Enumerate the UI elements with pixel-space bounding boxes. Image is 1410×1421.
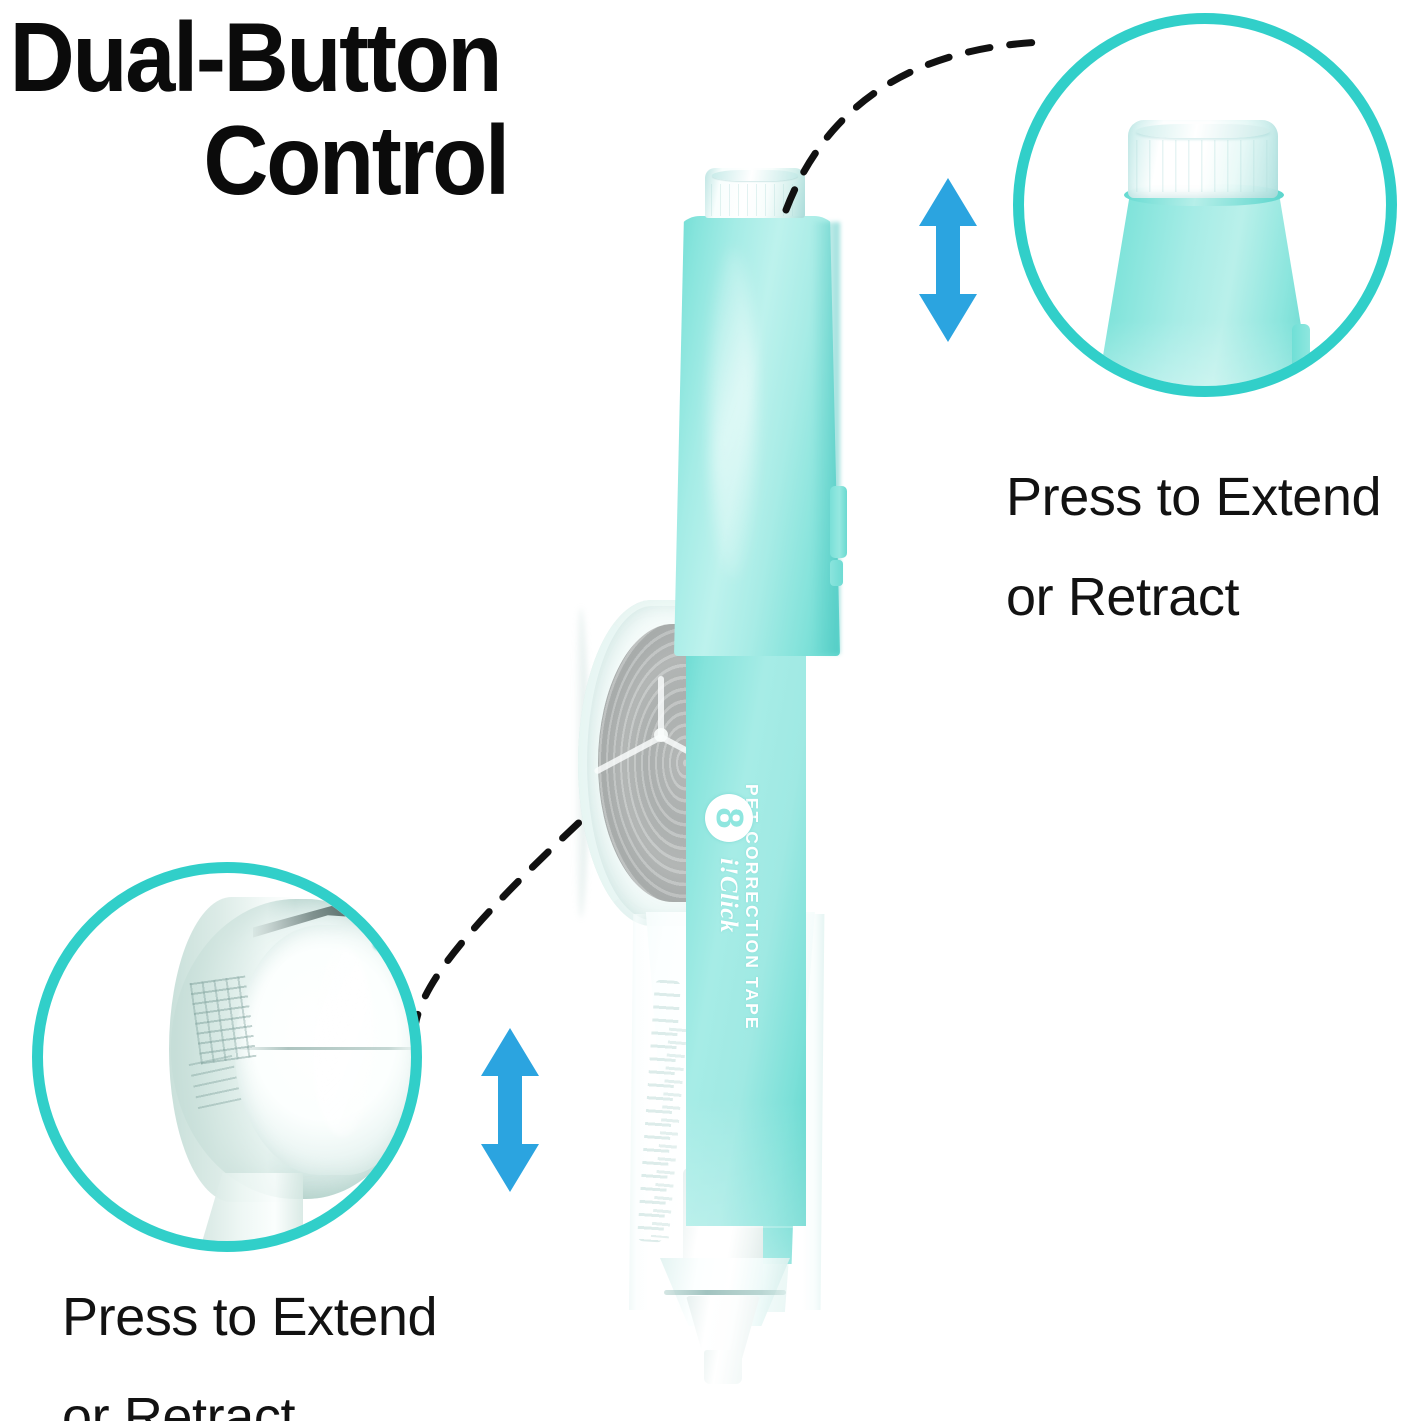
product-image-correction-tape-pen: PET CORRECTION TAPE i!Click 8 m — [560, 168, 860, 1383]
leader-line-bottom — [390, 800, 670, 1040]
callout-ring-bottom — [32, 862, 422, 1252]
callout-label-bottom-line-1: Press to Extend — [62, 1268, 437, 1368]
double-arrow-vertical-icon-top — [915, 176, 981, 344]
callout-label-top-line-1: Press to Extend — [1006, 448, 1381, 548]
side-clip-lower — [830, 560, 843, 586]
upper-barrel-shading — [812, 222, 840, 654]
product-brand-logo-text: i!Click — [714, 858, 742, 933]
callout-label-bottom: Press to Extend or Retract — [62, 1268, 437, 1421]
page-title-line-1: Dual-Button — [6, 6, 705, 109]
double-arrow-vertical-icon-bottom — [477, 1026, 543, 1194]
reel-hub — [654, 728, 668, 742]
upper-barrel-gloss — [710, 248, 756, 578]
tip-cone-rim — [664, 1290, 786, 1295]
side-clip — [830, 486, 847, 558]
callout-ring-top — [1013, 13, 1397, 397]
product-label-highlight — [686, 1098, 806, 1228]
infographic-canvas: Dual-Button Control PET CORRE — [0, 0, 1410, 1421]
applicator-head — [686, 1296, 760, 1358]
callout-label-top-line-2: or Retract — [1006, 548, 1381, 648]
tape-length-unit: m — [734, 798, 750, 810]
applicator-tip — [704, 1350, 742, 1384]
callout-label-bottom-line-2: or Retract — [62, 1368, 437, 1421]
callout-label-top: Press to Extend or Retract — [1006, 448, 1381, 648]
lower-barrel-edge-right — [802, 914, 834, 1310]
